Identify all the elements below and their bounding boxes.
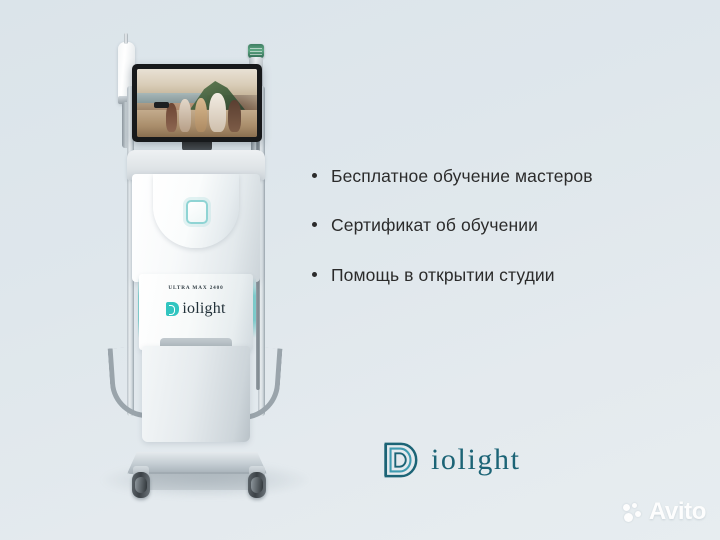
caster-wheel-right [248,472,266,498]
feature-label-1: Бесплатное обучение мастеров [331,166,593,187]
list-item: Бесплатное обучение мастеров [312,166,692,187]
handpiece-left-tip [124,33,128,44]
device-brand-label: iolight [182,300,225,318]
product-image: ULTRA MAX 2400 iolight [96,28,316,516]
brand-wordmark: iolight [431,443,521,477]
avito-dots-icon [623,503,644,522]
device-brand-mark-icon [166,302,179,316]
display-overlay-badge [154,102,170,108]
feature-list: Бесплатное обучение мастеров Сертификат … [312,166,692,314]
bullet-dot-icon [312,222,317,227]
accent-strip-right [253,278,256,338]
device-brand-row: iolight [139,300,253,318]
avito-label: Avito [649,498,706,526]
list-item: Помощь в открытии студии [312,265,692,286]
device-base-underside [140,472,254,490]
bullet-dot-icon [312,173,317,178]
device-lower-body [142,346,250,442]
device-display [132,64,262,142]
caster-wheel-left [132,472,150,498]
bullet-dot-icon [312,272,317,277]
display-image-beach [137,69,257,137]
brand-logo: iolight [382,440,521,480]
avito-watermark: Avito [623,498,706,526]
feature-label-2: Сертификат об обучении [331,215,538,236]
feature-label-3: Помощь в открытии студии [331,265,555,286]
list-item: Сертификат об обучении [312,215,692,236]
device-model-label: ULTRA MAX 2400 [139,285,253,291]
slide-canvas: ULTRA MAX 2400 iolight Бесплатное обучен… [0,0,720,540]
iolight-monogram-icon [382,440,420,480]
handpiece-right-head-icon [248,44,264,58]
dome-square-indicator-icon [186,200,208,224]
